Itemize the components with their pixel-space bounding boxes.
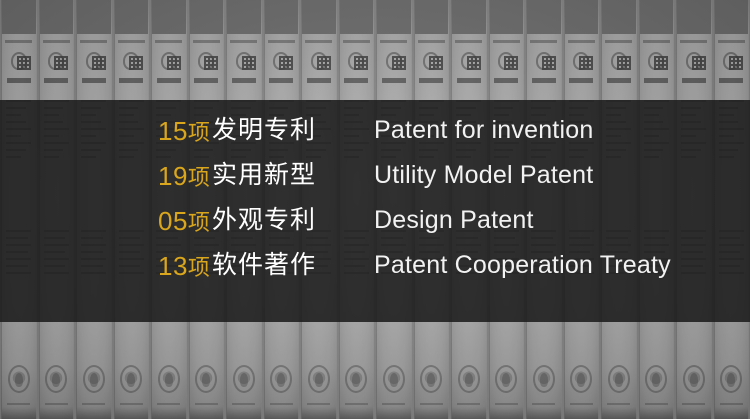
certificate-title-bar <box>307 78 331 83</box>
certificate-title-bar <box>269 78 293 83</box>
certificate-header-rule <box>530 40 557 43</box>
certificate-title-bar <box>419 78 443 83</box>
official-seal-icon <box>158 365 180 393</box>
certificate-title-bar <box>457 78 481 83</box>
patent-type-label-cn: 实用新型 <box>212 163 374 188</box>
patent-count-unit: 项 <box>188 255 211 280</box>
certificate-header-rule <box>193 40 220 43</box>
patent-count: 05项 <box>0 208 212 234</box>
official-seal-icon <box>83 365 105 393</box>
qr-code-icon <box>392 56 406 70</box>
certificate-title-bar <box>719 78 743 83</box>
official-seal-icon <box>720 365 742 393</box>
qr-code-icon <box>54 56 68 70</box>
official-seal-icon <box>195 365 217 393</box>
certificate-header-rule <box>568 40 595 43</box>
qr-code-icon <box>17 56 31 70</box>
patent-count: 19项 <box>0 163 212 189</box>
official-seal-icon <box>8 365 30 393</box>
certificate-footer-rule <box>495 403 518 405</box>
qr-code-icon <box>467 56 481 70</box>
patent-type-label-en: Patent for invention <box>374 118 593 143</box>
certificate-footer-rule <box>157 403 180 405</box>
patent-type-label-cn: 外观专利 <box>212 208 374 233</box>
certificate-header-rule <box>680 40 707 43</box>
certificate-footer-rule <box>570 403 593 405</box>
qr-code-icon <box>92 56 106 70</box>
certificate-title-bar <box>157 78 181 83</box>
certificate-footer-rule <box>82 403 105 405</box>
certificate-footer-rule <box>195 403 218 405</box>
certificate-footer-rule <box>720 403 743 405</box>
official-seal-icon <box>533 365 555 393</box>
qr-code-icon <box>579 56 593 70</box>
certificate-footer-rule <box>345 403 368 405</box>
official-seal-icon <box>570 365 592 393</box>
certificate-title-bar <box>644 78 668 83</box>
patent-count-number: 19 <box>158 161 188 191</box>
official-seal-icon <box>270 365 292 393</box>
certificate-header-rule <box>343 40 370 43</box>
qr-code-icon <box>654 56 668 70</box>
patent-count-number: 13 <box>158 251 188 281</box>
qr-code-icon <box>729 56 743 70</box>
certificate-title-bar <box>682 78 706 83</box>
patent-count-unit: 项 <box>188 120 211 145</box>
patent-stats-banner: 15项发明专利Patent for invention19项实用新型Utilit… <box>0 0 750 419</box>
official-seal-icon <box>45 365 67 393</box>
certificate-header-rule <box>493 40 520 43</box>
patent-stat-row: 19项实用新型Utility Model Patent <box>0 153 750 198</box>
official-seal-icon <box>608 365 630 393</box>
official-seal-icon <box>458 365 480 393</box>
patent-count-unit: 项 <box>188 210 211 235</box>
certificate-title-bar <box>119 78 143 83</box>
patent-type-label-cn: 软件著作 <box>212 253 374 278</box>
certificate-footer-rule <box>120 403 143 405</box>
patent-count-number: 15 <box>158 116 188 146</box>
certificate-title-bar <box>344 78 368 83</box>
patent-count-number: 05 <box>158 206 188 236</box>
certificate-header-rule <box>80 40 107 43</box>
certificate-footer-rule <box>457 403 480 405</box>
qr-code-icon <box>617 56 631 70</box>
certificate-title-bar <box>382 78 406 83</box>
certificate-title-bar <box>532 78 556 83</box>
certificate-footer-rule <box>45 403 68 405</box>
official-seal-icon <box>233 365 255 393</box>
patent-stat-row: 15项发明专利Patent for invention <box>0 108 750 153</box>
patent-count: 15项 <box>0 118 212 144</box>
patent-stat-row: 13项软件著作Patent Cooperation Treaty <box>0 243 750 288</box>
patent-type-label-en: Utility Model Patent <box>374 163 593 188</box>
official-seal-icon <box>420 365 442 393</box>
qr-code-icon <box>279 56 293 70</box>
certificate-footer-rule <box>270 403 293 405</box>
patent-count-unit: 项 <box>188 165 211 190</box>
patent-type-label-en: Design Patent <box>374 208 534 233</box>
certificate-title-bar <box>44 78 68 83</box>
qr-code-icon <box>204 56 218 70</box>
certificate-header-rule <box>43 40 70 43</box>
certificate-footer-rule <box>682 403 705 405</box>
certificate-header-rule <box>455 40 482 43</box>
official-seal-icon <box>345 365 367 393</box>
patent-stat-row: 05项外观专利Design Patent <box>0 198 750 243</box>
qr-code-icon <box>692 56 706 70</box>
certificate-header-rule <box>118 40 145 43</box>
certificate-title-bar <box>232 78 256 83</box>
patent-type-label-cn: 发明专利 <box>212 118 374 143</box>
certificate-title-bar <box>494 78 518 83</box>
qr-code-icon <box>542 56 556 70</box>
qr-code-icon <box>429 56 443 70</box>
certificate-header-rule <box>380 40 407 43</box>
certificate-footer-rule <box>382 403 405 405</box>
certificate-title-bar <box>7 78 31 83</box>
qr-code-icon <box>167 56 181 70</box>
certificate-header-rule <box>718 40 745 43</box>
certificate-header-rule <box>230 40 257 43</box>
official-seal-icon <box>383 365 405 393</box>
qr-code-icon <box>504 56 518 70</box>
certificate-footer-rule <box>307 403 330 405</box>
certificate-header-rule <box>605 40 632 43</box>
certificate-title-bar <box>569 78 593 83</box>
official-seal-icon <box>120 365 142 393</box>
certificate-title-bar <box>607 78 631 83</box>
official-seal-icon <box>495 365 517 393</box>
certificate-footer-rule <box>232 403 255 405</box>
official-seal-icon <box>308 365 330 393</box>
qr-code-icon <box>242 56 256 70</box>
certificate-title-bar <box>82 78 106 83</box>
certificate-title-bar <box>194 78 218 83</box>
qr-code-icon <box>317 56 331 70</box>
official-seal-icon <box>645 365 667 393</box>
certificate-header-rule <box>643 40 670 43</box>
patent-stats-list: 15项发明专利Patent for invention19项实用新型Utilit… <box>0 100 750 322</box>
qr-code-icon <box>129 56 143 70</box>
certificate-footer-rule <box>7 403 30 405</box>
certificate-header-rule <box>418 40 445 43</box>
qr-code-icon <box>354 56 368 70</box>
certificate-header-rule <box>268 40 295 43</box>
certificate-footer-rule <box>607 403 630 405</box>
certificate-header-rule <box>155 40 182 43</box>
certificate-footer-rule <box>420 403 443 405</box>
official-seal-icon <box>683 365 705 393</box>
certificate-header-rule <box>305 40 332 43</box>
certificate-header-rule <box>5 40 32 43</box>
patent-type-label-en: Patent Cooperation Treaty <box>374 253 671 278</box>
certificate-footer-rule <box>532 403 555 405</box>
certificate-footer-rule <box>645 403 668 405</box>
patent-count: 13项 <box>0 253 212 279</box>
